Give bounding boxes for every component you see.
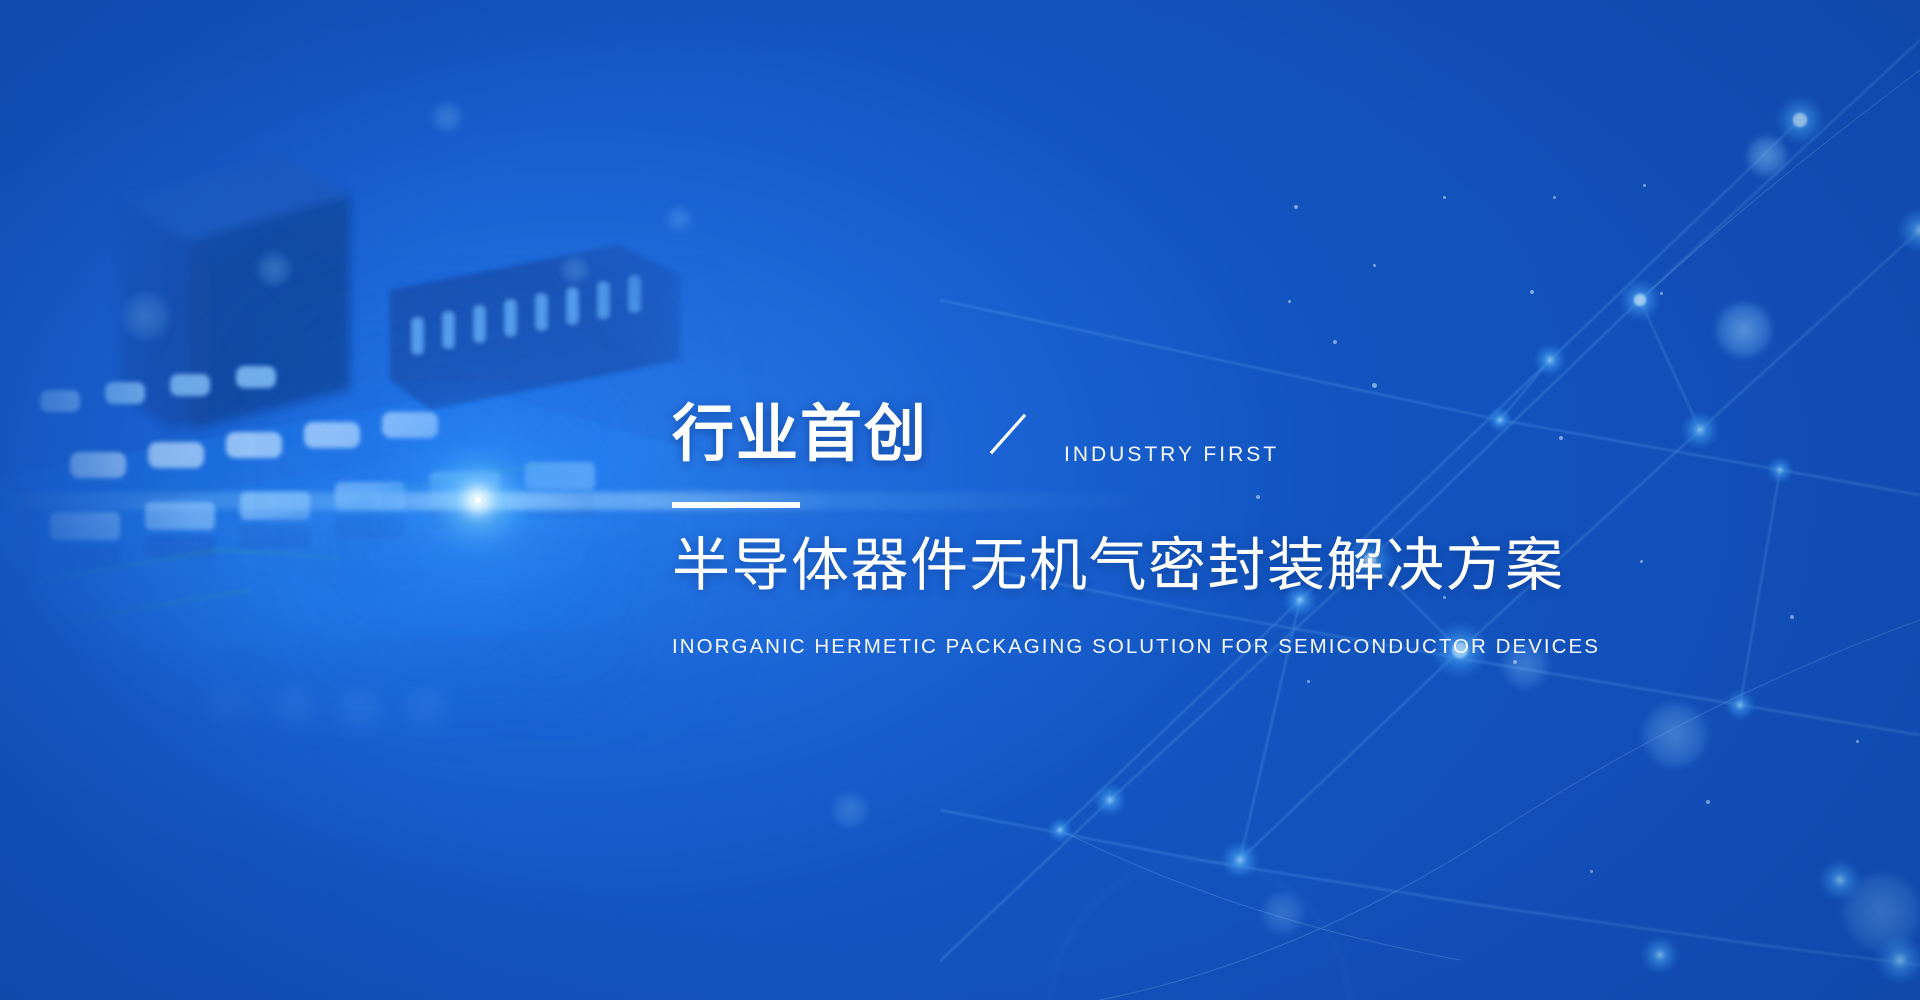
hero-banner: 行业首创 INDUSTRY FIRST 半导体器件无机气密封装解决方案 INOR… (0, 0, 1920, 1000)
eyebrow-headline-en: INDUSTRY FIRST (1064, 443, 1279, 472)
hero-title-cn: 半导体器件无机气密封装解决方案 (672, 534, 1852, 597)
hero-subtitle-en: INORGANIC HERMETIC PACKAGING SOLUTION FO… (672, 635, 1852, 659)
hero-copy-block: 行业首创 INDUSTRY FIRST 半导体器件无机气密封装解决方案 INOR… (672, 396, 1852, 659)
slash-divider-icon (986, 410, 1030, 458)
title-divider-rule (672, 502, 800, 508)
eyebrow-row: 行业首创 INDUSTRY FIRST (672, 396, 1852, 472)
light-burst-core-icon (475, 497, 481, 503)
eyebrow-headline-cn: 行业首创 (672, 403, 928, 465)
